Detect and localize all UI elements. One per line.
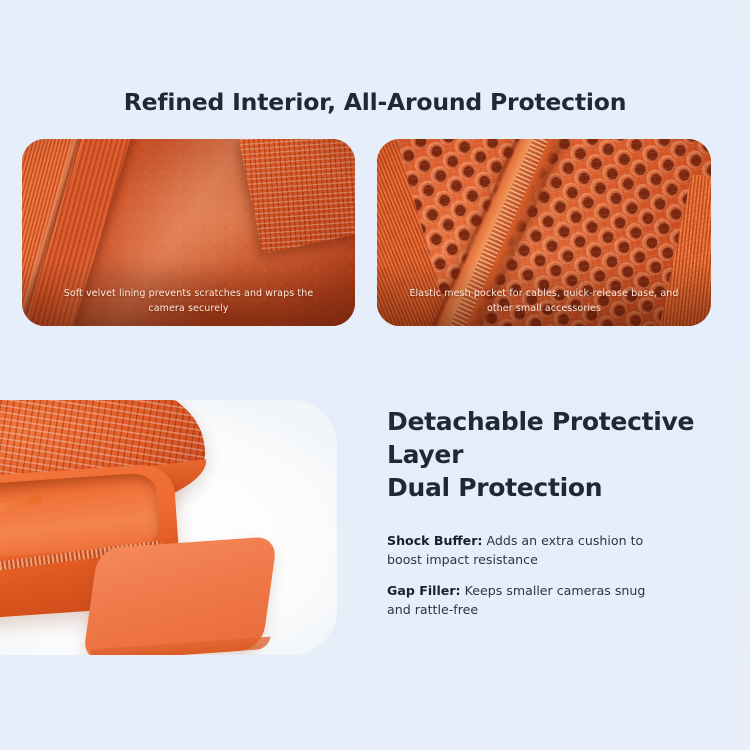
photo-tile-elastic-mesh: Elastic mesh pocket for cables, quick-re…: [377, 139, 711, 326]
section-title: Refined Interior, All-Around Protection: [0, 88, 750, 116]
photo-tile-velvet-lining: Soft velvet lining prevents scratches an…: [22, 139, 355, 326]
feature-shock-buffer: Shock Buffer: Adds an extra cushion to b…: [387, 531, 672, 569]
feature-gap-filler: Gap Filler: Keeps smaller cameras snug a…: [387, 581, 672, 619]
feature-term-gap-filler: Gap Filler:: [387, 583, 461, 598]
tile-caption-mesh: Elastic mesh pocket for cables, quick-re…: [404, 286, 685, 316]
product-feature-page: Refined Interior, All-Around Protection …: [0, 0, 750, 750]
case-divider-horizontal: [0, 494, 43, 519]
headline-line-2: Dual Protection: [387, 471, 732, 504]
page-headline: Detachable Protective Layer Dual Protect…: [387, 405, 732, 504]
headline-line-1: Detachable Protective Layer: [387, 405, 732, 471]
product-photo-panel: [0, 400, 337, 655]
tile-caption-velvet: Soft velvet lining prevents scratches an…: [49, 286, 329, 316]
feature-term-shock-buffer: Shock Buffer:: [387, 533, 482, 548]
